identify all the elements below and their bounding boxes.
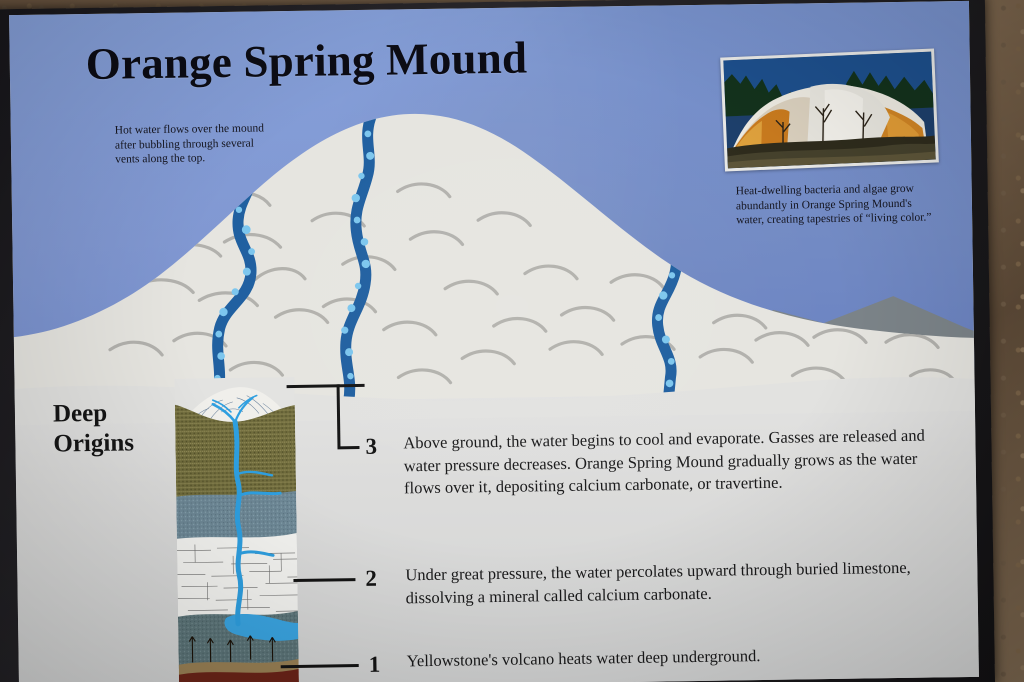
interpretive-sign-panel: Orange Spring Mound Hot water flows over… (9, 1, 979, 682)
step-text-2: Under great pressure, the water percolat… (405, 556, 946, 609)
leader-line-3-horizontal-bottom (337, 446, 359, 449)
section-heading-deep-origins: Deep Origins (53, 398, 174, 460)
step-text-3: Above ground, the water begins to cool a… (403, 424, 936, 499)
cross-section-diagram (174, 377, 299, 682)
caption-photo: Heat-dwelling bacteria and algae grow ab… (736, 181, 943, 228)
photo-image (723, 52, 935, 169)
sign-photograph: Orange Spring Mound Hot water flows over… (0, 0, 1024, 682)
photo-inset (720, 48, 939, 171)
step-number-2: 2 (365, 566, 377, 592)
step-number-3: 3 (365, 434, 377, 460)
caption-left: Hot water flows over the mound after bub… (115, 121, 276, 167)
step-number-1: 1 (369, 652, 381, 678)
page-title: Orange Spring Mound (85, 31, 527, 90)
